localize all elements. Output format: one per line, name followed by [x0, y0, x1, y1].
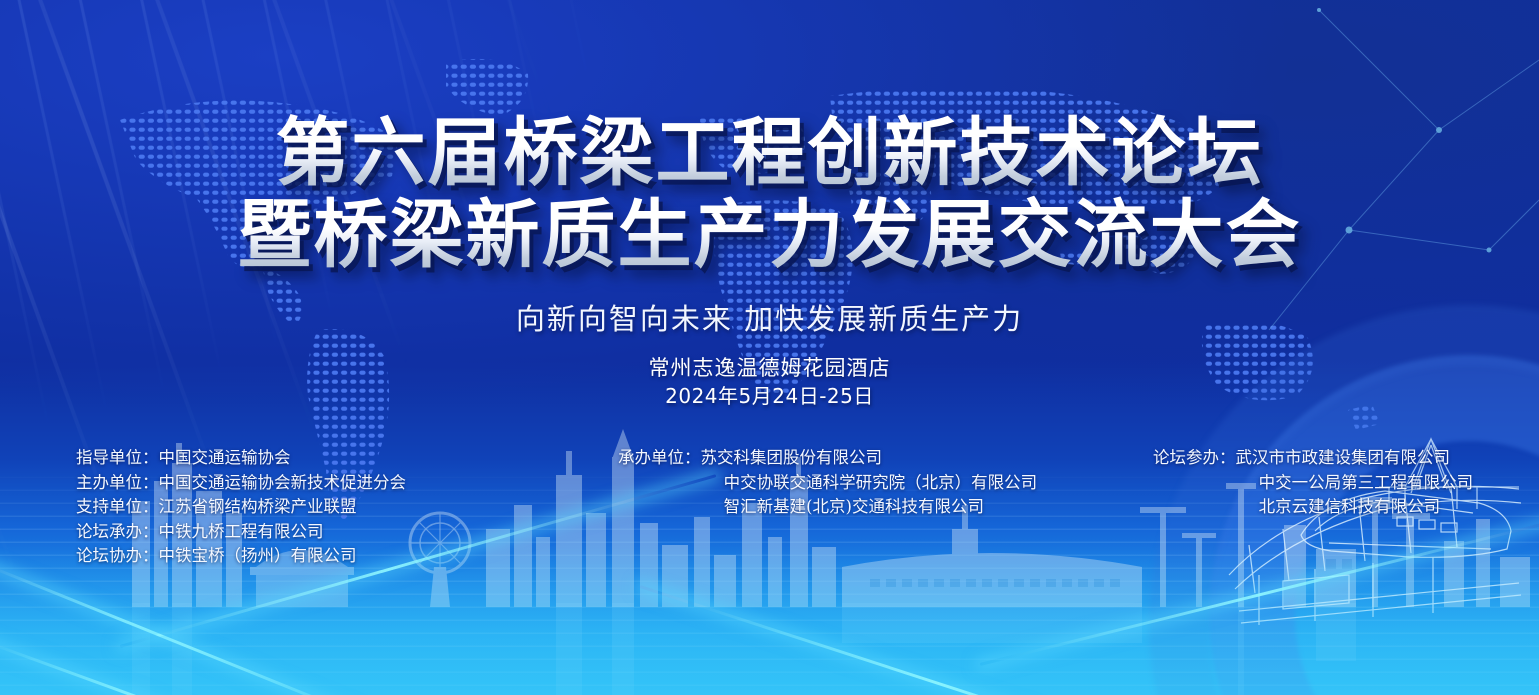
org-row: 中交协联交通科学研究院（北京）有限公司 — [618, 471, 1037, 496]
org-value: 中铁九桥工程有限公司 — [159, 522, 324, 541]
org-row: 承办单位：苏交科集团股份有限公司 — [618, 446, 1037, 471]
venue-text: 常州志逸温德姆花园酒店 — [0, 352, 1539, 382]
title-line-1: 第六届桥梁工程创新技术论坛 — [0, 112, 1539, 194]
title-line-2: 暨桥梁新质生产力发展交流大会 — [0, 194, 1539, 276]
org-value: 中交一公局第三工程有限公司 — [1259, 473, 1474, 492]
org-label: 论坛协办： — [76, 546, 159, 565]
org-row: 中交一公局第三工程有限公司 — [1153, 471, 1473, 496]
org-label: 指导单位： — [76, 448, 159, 467]
organizations-right-column: 论坛参办：武汉市市政建设集团有限公司 中交一公局第三工程有限公司 北京云建信科技… — [1153, 446, 1473, 520]
organizations-left-column: 指导单位：中国交通运输协会 主办单位：中国交通运输协会新技术促进分会 支持单位：… — [76, 446, 406, 569]
org-row: 指导单位：中国交通运输协会 — [76, 446, 406, 471]
organizations-middle-column: 承办单位：苏交科集团股份有限公司 中交协联交通科学研究院（北京）有限公司 智汇新… — [618, 446, 1037, 520]
conference-banner: 第六届桥梁工程创新技术论坛 暨桥梁新质生产力发展交流大会 向新向智向未来 加快发… — [0, 0, 1539, 695]
main-title: 第六届桥梁工程创新技术论坛 暨桥梁新质生产力发展交流大会 — [0, 112, 1539, 276]
org-value: 江苏省钢结构桥梁产业联盟 — [159, 497, 357, 516]
org-row: 论坛协办：中铁宝桥（扬州）有限公司 — [76, 544, 406, 569]
org-row: 北京云建信科技有限公司 — [1153, 495, 1473, 520]
org-row: 论坛参办：武汉市市政建设集团有限公司 — [1153, 446, 1473, 471]
org-label: 论坛参办： — [1153, 448, 1236, 467]
org-value: 智汇新基建(北京)交通科技有限公司 — [724, 497, 984, 516]
org-label: 支持单位： — [76, 497, 159, 516]
org-value: 武汉市市政建设集团有限公司 — [1236, 448, 1451, 467]
org-row: 论坛承办：中铁九桥工程有限公司 — [76, 520, 406, 545]
org-label: 论坛承办： — [76, 522, 159, 541]
org-value: 中国交通运输协会新技术促进分会 — [159, 473, 407, 492]
org-value: 北京云建信科技有限公司 — [1259, 497, 1441, 516]
org-row: 智汇新基建(北京)交通科技有限公司 — [618, 495, 1037, 520]
org-value: 中铁宝桥（扬州）有限公司 — [159, 546, 357, 565]
org-value: 苏交科集团股份有限公司 — [701, 448, 883, 467]
org-value: 中国交通运输协会 — [159, 448, 291, 467]
date-text: 2024年5月24日-25日 — [0, 380, 1539, 409]
org-label: 主办单位： — [76, 473, 159, 492]
org-label: 承办单位： — [618, 448, 701, 467]
org-value: 中交协联交通科学研究院（北京）有限公司 — [724, 473, 1038, 492]
org-row: 支持单位：江苏省钢结构桥梁产业联盟 — [76, 495, 406, 520]
org-row: 主办单位：中国交通运输协会新技术促进分会 — [76, 471, 406, 496]
banner-content: 第六届桥梁工程创新技术论坛 暨桥梁新质生产力发展交流大会 向新向智向未来 加快发… — [0, 0, 1539, 695]
subtitle-slogan: 向新向智向未来 加快发展新质生产力 — [0, 296, 1539, 338]
